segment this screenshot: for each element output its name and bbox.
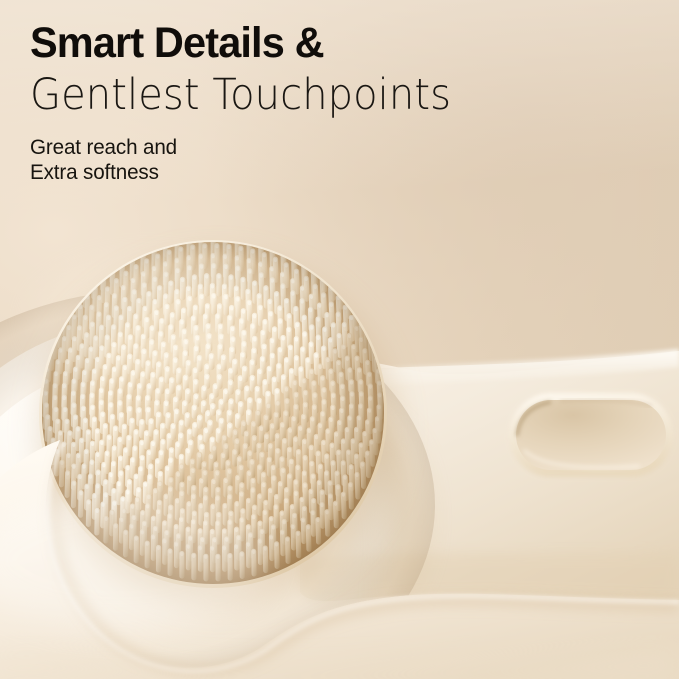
bristle-tip-highlight [180,455,183,460]
bristle-tip-highlight [156,389,159,394]
bristle-tip-highlight [149,465,152,469]
bristle-tip-highlight [198,416,202,421]
bristle-tip-highlight [282,240,285,244]
bristle-tip-highlight [259,241,262,245]
bristle-tip-highlight [165,231,168,235]
bristle-tip-highlight [212,224,215,228]
bristle-tip-highlight [224,224,227,228]
bristle-tip-highlight [199,436,203,441]
bristle-tip-highlight [144,482,147,486]
bristle-tip-highlight [203,462,206,467]
bristle-tip-highlight [192,486,195,490]
bristle-tip-highlight [270,245,273,249]
bristle-tip-highlight [247,238,250,242]
bristle-tip-highlight [236,226,239,230]
bristle-tip-highlight [293,245,296,249]
bristle-tip-highlight [339,283,342,287]
bristle-tip-highlight [176,228,179,232]
bristle-tip-highlight [204,488,207,492]
page-subtitle: Gentlest Touchpoints [30,70,588,120]
bristle-tip-highlight [200,479,203,483]
bristle-tip-highlight [191,469,194,473]
bristle-tip-highlight [139,467,142,471]
bristle-tip-highlight [191,460,194,465]
bristle-tip-highlight [200,224,203,228]
tagline-line-1: Great reach and [30,135,606,160]
bristle-tip-highlight [147,408,150,413]
bristle-tip-highlight [154,430,157,435]
bristle-tip-highlight [176,238,179,242]
bristle-tip-highlight [160,451,163,455]
bristle-tip-highlight [145,431,148,436]
bristle-tip-highlight [111,257,114,261]
bristle-tip-highlight [180,464,183,468]
bristle-tip-highlight [211,234,214,238]
bristle-tip-highlight [186,389,190,394]
bristle-tip-highlight [159,472,162,476]
bristle-tip-highlight [156,254,159,258]
bristle-tip-highlight [194,380,198,385]
bristle-tip-highlight [140,420,143,425]
bristle-tip-highlight [322,266,325,270]
bristle-tip-highlight [189,441,192,446]
bristle-tip-highlight [192,495,195,499]
bristle-tip-highlight [177,386,180,391]
bristle-tip-highlight [121,250,124,254]
bristle-tip-highlight [236,236,239,240]
bristle-tip-highlight [175,410,178,415]
bristle-tip-highlight [179,247,182,251]
bristle-tip-highlight [148,475,151,479]
bristle-tip-highlight [200,445,203,450]
bristle-tip-highlight [131,244,134,248]
bristle-tip-highlight [156,459,159,463]
bristle-tip-highlight [359,313,362,317]
bristle-tip-highlight [186,449,189,454]
bristle-tip-highlight [193,423,197,428]
bristle-tip-highlight [176,442,179,447]
bristle-tip-highlight [346,292,349,296]
bristle-tip-highlight [170,448,173,453]
bristle-tip-highlight [203,471,206,476]
bristle-tip-highlight [199,234,202,238]
bristle-tip-highlight [364,323,367,327]
bristle-tip-highlight [148,384,151,389]
bristle-tip-highlight [331,274,334,278]
bristle-tip-highlight [271,235,274,239]
bristle-tip-highlight [224,234,227,238]
bristle-tip-highlight [140,441,143,445]
bristle-tip-highlight [183,401,187,406]
bristle-tip-highlight [194,395,198,400]
bristle-tip-highlight [166,466,169,470]
bristle-tip-highlight [147,451,150,455]
bristle-tip-highlight [187,236,190,240]
bristle-tip-highlight [303,251,306,255]
tagline-line-2: Extra softness [30,160,606,185]
bristle-tip-highlight [198,453,201,458]
hanging-hole [509,393,673,477]
bristle-tip-highlight [141,456,144,460]
bristle-tip-highlight [152,442,155,446]
bristle-tip-highlight [150,419,153,424]
bristle-tip-highlight [169,478,172,482]
bristle-tip-highlight [166,390,169,395]
bristle-tip-highlight [161,440,164,445]
bristle-tip-highlight [191,245,194,249]
bristle-tip-highlight [188,476,191,480]
bristle-tip-highlight [146,396,149,401]
bristle-tip-highlight [169,487,172,491]
bristle-tip-highlight [177,472,180,476]
bristle-tip-highlight [186,413,190,418]
bristle-tip-highlight [281,250,284,254]
bristle-tip-highlight [168,434,171,439]
bristle-tip-highlight [259,231,262,235]
bristle-tip-highlight [202,401,206,406]
bristle-tip-highlight [353,302,356,306]
product-hero-banner: Smart Details & Gentlest Touchpoints Gre… [0,0,679,679]
bristle-tip-highlight [169,458,172,462]
bristle-tip-highlight [164,241,167,245]
tagline: Great reach and Extra softness [30,135,606,185]
bristle-tip-highlight [153,245,156,249]
bristle-tip-highlight [204,496,207,500]
bristle-tip-highlight [313,258,316,262]
bristle-tip-highlight [180,492,183,496]
bristle-tip-highlight [165,401,168,406]
bristle-tip-highlight [167,413,170,418]
bristle-tip-highlight [174,398,177,403]
bristle-tip-highlight [180,483,183,487]
bristle-tip-highlight [179,434,182,439]
bristle-tip-highlight [157,413,160,418]
bristle-tip-highlight [188,226,191,230]
bristle-tip-highlight [161,424,164,429]
brush-sheen [30,258,270,382]
bristle-tip-highlight [187,256,190,260]
bristle-tip-highlight [188,430,191,435]
bristle-tip-highlight [180,421,183,426]
hero-text-block: Smart Details & Gentlest Touchpoints Gre… [30,18,630,185]
page-title: Smart Details & [30,18,609,68]
bristle-tip-highlight [158,482,161,486]
bristle-tip-highlight [155,401,158,406]
bristle-tip-highlight [142,250,145,254]
bristle-tip-highlight [142,239,145,243]
bristle-tip-highlight [153,234,156,238]
bristle-tip-highlight [248,228,251,232]
bristle-tip-highlight [168,251,171,255]
bristle-tip-highlight [193,406,197,411]
bristle-tip-highlight [172,424,175,429]
